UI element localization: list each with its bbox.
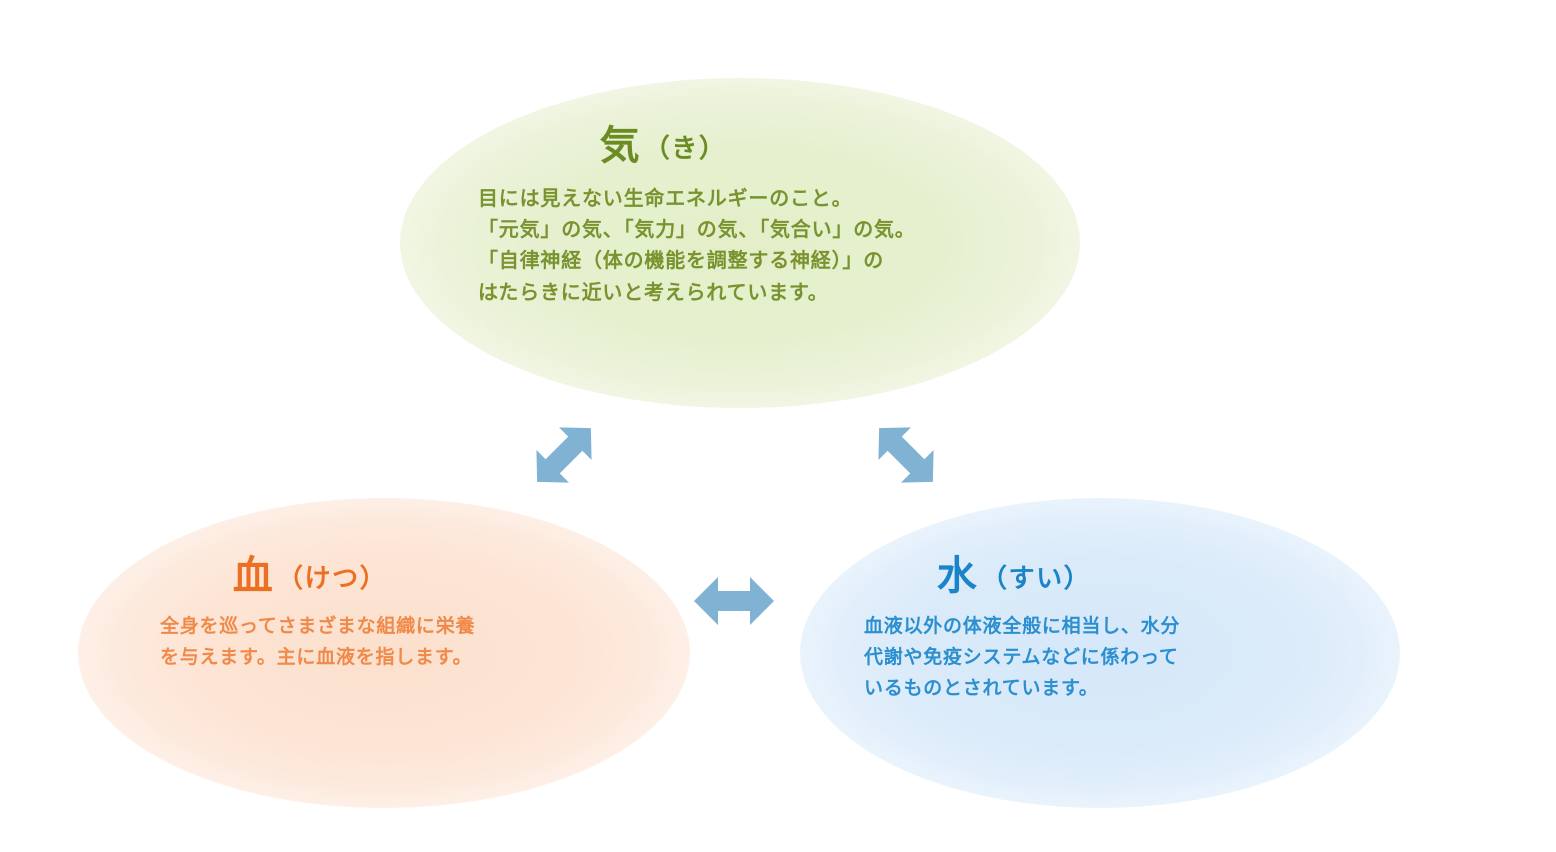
sui-heading: 水（すい）	[864, 556, 1164, 596]
double-arrow-diagonal-up-right-icon	[516, 412, 612, 503]
qi-reading: （き）	[644, 133, 727, 163]
double-arrow-horizontal-icon	[692, 570, 776, 637]
double-arrow-diagonal-up-left-icon	[858, 412, 954, 503]
ketsu-description: 全身を巡ってさまざまな組織に栄養 を与えます。主に血液を指します。	[160, 612, 630, 674]
node-ketsu: 血（けつ） 全身を巡ってさまざまな組織に栄養 を与えます。主に血液を指します。	[160, 556, 630, 674]
ketsu-reading: （けつ）	[277, 563, 387, 593]
sui-description: 血液以外の体液全般に相当し、水分 代謝や免疫システムなどに係わって いるものとさ…	[864, 612, 1334, 704]
qi-description: 目には見えない生命エネルギーのこと。 「元気」の気、「気力」の気、「気合い」の気…	[478, 184, 1038, 309]
ketsu-kanji: 血	[233, 554, 273, 598]
ketsu-heading: 血（けつ）	[160, 556, 460, 596]
sui-kanji: 水	[937, 554, 977, 598]
node-sui: 水（すい） 血液以外の体液全般に相当し、水分 代謝や免疫システムなどに係わって …	[864, 556, 1334, 704]
node-qi: 気（き） 目には見えない生命エネルギーのこと。 「元気」の気、「気力」の気、「気…	[478, 126, 1038, 309]
qi-heading: 気（き）	[478, 126, 848, 166]
sui-reading: （すい）	[981, 563, 1091, 593]
qi-kanji: 気	[600, 124, 640, 168]
qi-ketsu-sui-diagram: 気（き） 目には見えない生命エネルギーのこと。 「元気」の気、「気力」の気、「気…	[0, 0, 1556, 852]
